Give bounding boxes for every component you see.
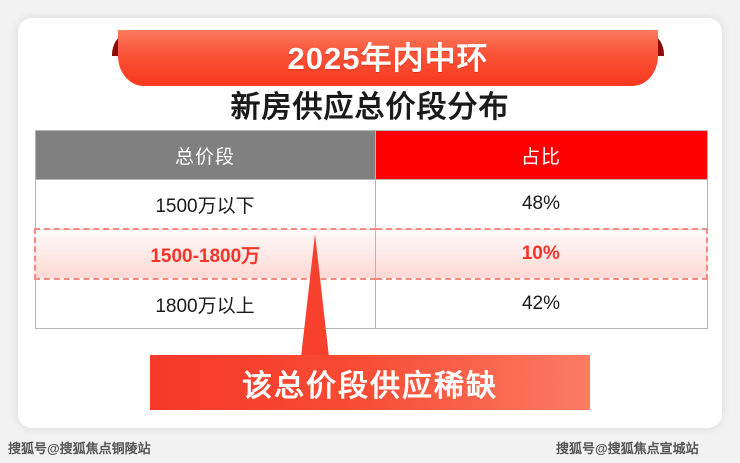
- table-row-highlighted: 1500-1800万 10%: [35, 229, 707, 279]
- ribbon-body: 2025年内中环: [118, 30, 658, 86]
- infographic-canvas: 2025年内中环 新房供应总价段分布 总价段 占比: [0, 0, 740, 463]
- table-body: 1500万以下 48% 1500-1800万 10% 1800万以上 42%: [35, 180, 707, 329]
- watermark-left: 搜狐号@搜狐焦点铜陵站: [8, 438, 151, 457]
- top-ribbon: 2025年内中环: [118, 24, 658, 86]
- callout-banner: 该总价段供应稀缺: [150, 355, 590, 410]
- price-table-wrapper: 总价段 占比 1500万以下 48% 1500-1800万 10% 1800万以…: [34, 130, 706, 329]
- column-header-range: 总价段: [35, 131, 375, 180]
- cell-range: 1500万以下: [35, 180, 375, 230]
- page-title: 新房供应总价段分布: [18, 90, 722, 126]
- table-row: 1800万以上 42%: [35, 279, 707, 329]
- price-distribution-table: 总价段 占比 1500万以下 48% 1500-1800万 10% 1800万以…: [34, 130, 708, 329]
- callout-banner-text: 该总价段供应稀缺: [242, 361, 498, 405]
- table-header-row: 总价段 占比: [35, 131, 707, 180]
- column-header-share: 占比: [375, 131, 707, 180]
- cell-share: 42%: [375, 279, 707, 329]
- ribbon-title: 2025年内中环: [288, 43, 489, 74]
- cell-share: 48%: [375, 180, 707, 230]
- table-row: 1500万以下 48%: [35, 180, 707, 230]
- table-header: 总价段 占比: [35, 131, 707, 180]
- watermark-right: 搜狐号@搜狐焦点宣城站: [556, 438, 699, 457]
- up-arrow-pointer-icon: [300, 234, 330, 366]
- cell-share: 10%: [375, 229, 707, 279]
